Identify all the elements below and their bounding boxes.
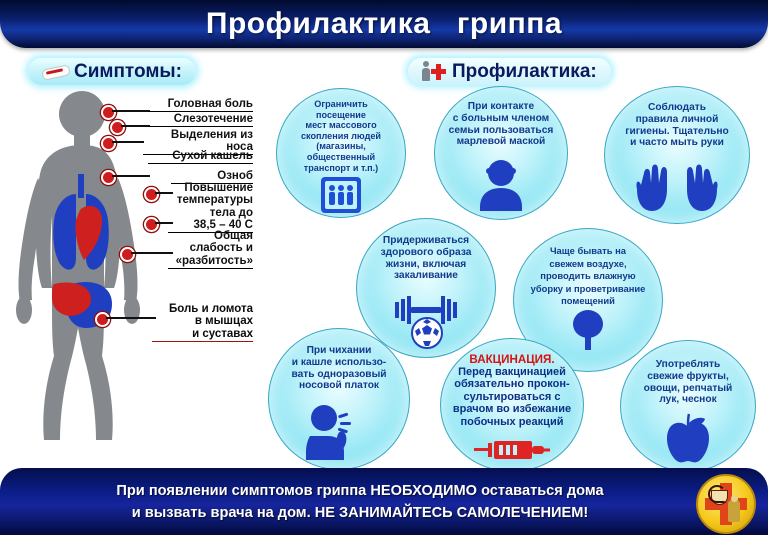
symptom-label-fever: Повышение температуры тела до 38,5 – 40 … bbox=[168, 182, 253, 233]
prevention-bubble-vaccination-title: ВАКЦИНАЦИЯ. bbox=[469, 339, 554, 366]
leader-line bbox=[121, 125, 150, 127]
symptom-marker-muscle-pain bbox=[95, 312, 110, 327]
prevention-bubble-hygiene-text: Соблюдать правила личной гигиены. Тщател… bbox=[616, 87, 737, 149]
prevention-bubble-lifestyle-text: Придерживаться здорового образа жизни, в… bbox=[372, 219, 481, 282]
influenza-prevention-poster: Профилактика гриппа Симптомы: Профилакти… bbox=[0, 0, 768, 535]
person-with-cross-icon bbox=[422, 61, 446, 83]
symptom-marker-dry-cough bbox=[101, 170, 116, 185]
prevention-bubble-sneeze[interactable]: При чихании и кашле использо- вать однор… bbox=[268, 328, 410, 470]
leader-line bbox=[112, 110, 150, 112]
prevention-bubble-lifestyle[interactable]: Придерживаться здорового образа жизни, в… bbox=[356, 218, 496, 358]
leader-line bbox=[106, 317, 156, 319]
symptom-label-dry-cough: Сухой кашель bbox=[148, 150, 253, 164]
leader-line bbox=[131, 252, 173, 254]
symptoms-heading: Симптомы: bbox=[28, 58, 196, 85]
crowd-of-people-icon bbox=[277, 173, 405, 217]
prevention-bubble-nutrition[interactable]: Употреблять свежие фрукты, овощи, репчат… bbox=[620, 340, 756, 472]
medical-emblem-icon bbox=[696, 474, 756, 534]
footer-line-2: и вызвать врача на дом. НЕ ЗАНИМАЙТЕСЬ С… bbox=[116, 502, 603, 524]
prevention-bubble-vaccination[interactable]: ВАКЦИНАЦИЯ. Перед вакцинацией обязательн… bbox=[440, 338, 584, 472]
thermometer-icon bbox=[42, 65, 68, 78]
symptom-label-weakness: Общая слабость и «разбитость» bbox=[168, 230, 253, 269]
symptom-marker-runny-nose bbox=[101, 136, 116, 151]
footer-text: При появлении симптомов гриппа НЕОБХОДИМ… bbox=[116, 480, 651, 524]
poster-title-banner: Профилактика гриппа bbox=[0, 0, 768, 48]
prevention-bubble-fresh-air-text: Чаще бывать на свежем воздухе, проводить… bbox=[522, 229, 655, 308]
symptom-label-tearing: Слезотечение bbox=[148, 113, 253, 127]
person-wearing-mask-icon bbox=[435, 148, 567, 219]
leader-line bbox=[112, 175, 150, 177]
symptom-marker-fever bbox=[144, 217, 159, 232]
footer-banner: При появлении симптомов гриппа НЕОБХОДИМ… bbox=[0, 468, 768, 535]
apple-icon bbox=[621, 406, 755, 471]
prevention-bubble-nutrition-text: Употреблять свежие фрукты, овощи, репчат… bbox=[635, 341, 742, 406]
prevention-bubble-hygiene[interactable]: Соблюдать правила личной гигиены. Тщател… bbox=[604, 86, 750, 224]
person-sneezing-icon bbox=[269, 392, 409, 469]
symptom-marker-chills bbox=[144, 187, 159, 202]
prevention-bubble-vaccination-text: Перед вакцинацией обязательно прокон- су… bbox=[447, 366, 577, 428]
prevention-heading: Профилактика: bbox=[408, 58, 611, 85]
page-title: Профилактика гриппа bbox=[206, 7, 562, 41]
symptoms-heading-label: Симптомы: bbox=[74, 61, 182, 83]
prevention-bubble-crowds[interactable]: Ограничить посещение мест массового скоп… bbox=[276, 88, 406, 218]
syringe-icon bbox=[441, 428, 583, 471]
symptom-marker-tearing bbox=[110, 120, 125, 135]
prevention-bubble-crowds-text: Ограничить посещение мест массового скоп… bbox=[292, 89, 390, 173]
prevention-bubble-mask[interactable]: При контакте с больным членом семьи поль… bbox=[434, 86, 568, 220]
prevention-bubble-mask-text: При контакте с больным членом семьи поль… bbox=[440, 87, 563, 148]
two-hands-icon bbox=[605, 149, 749, 223]
symptom-label-headache: Головная боль bbox=[148, 98, 253, 112]
leader-line bbox=[112, 141, 144, 143]
footer-line-1: При появлении симптомов гриппа НЕОБХОДИМ… bbox=[116, 480, 603, 502]
symptom-marker-headache bbox=[101, 105, 116, 120]
symptom-marker-weakness bbox=[120, 247, 135, 262]
prevention-heading-label: Профилактика: bbox=[452, 61, 597, 83]
symptom-label-muscle-pain: Боль и ломота в мышцах и суставах bbox=[152, 303, 253, 342]
